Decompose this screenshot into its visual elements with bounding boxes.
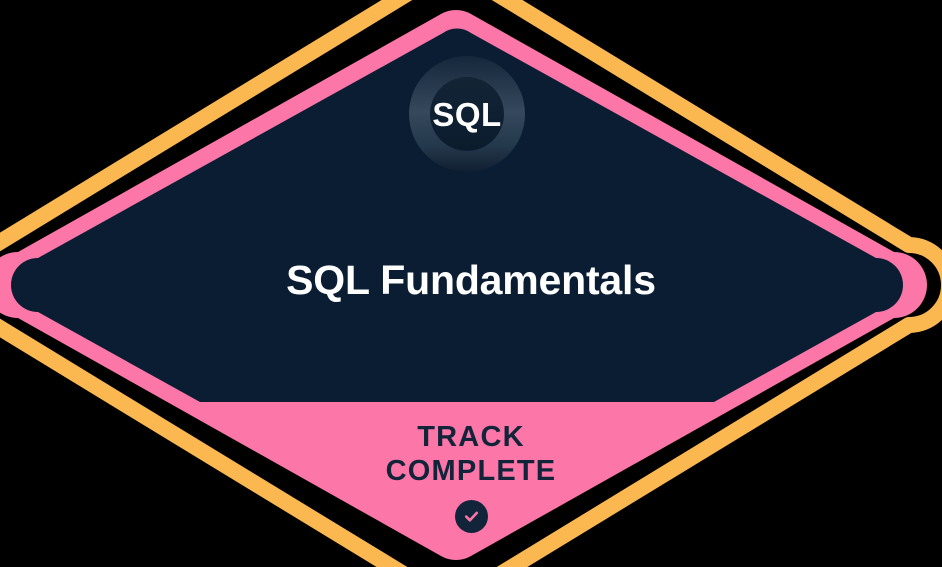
- badge-shape-canvas: [0, 0, 942, 567]
- track-badge-card[interactable]: SQL SQL Fundamentals TRACK COMPLETE: [0, 0, 942, 567]
